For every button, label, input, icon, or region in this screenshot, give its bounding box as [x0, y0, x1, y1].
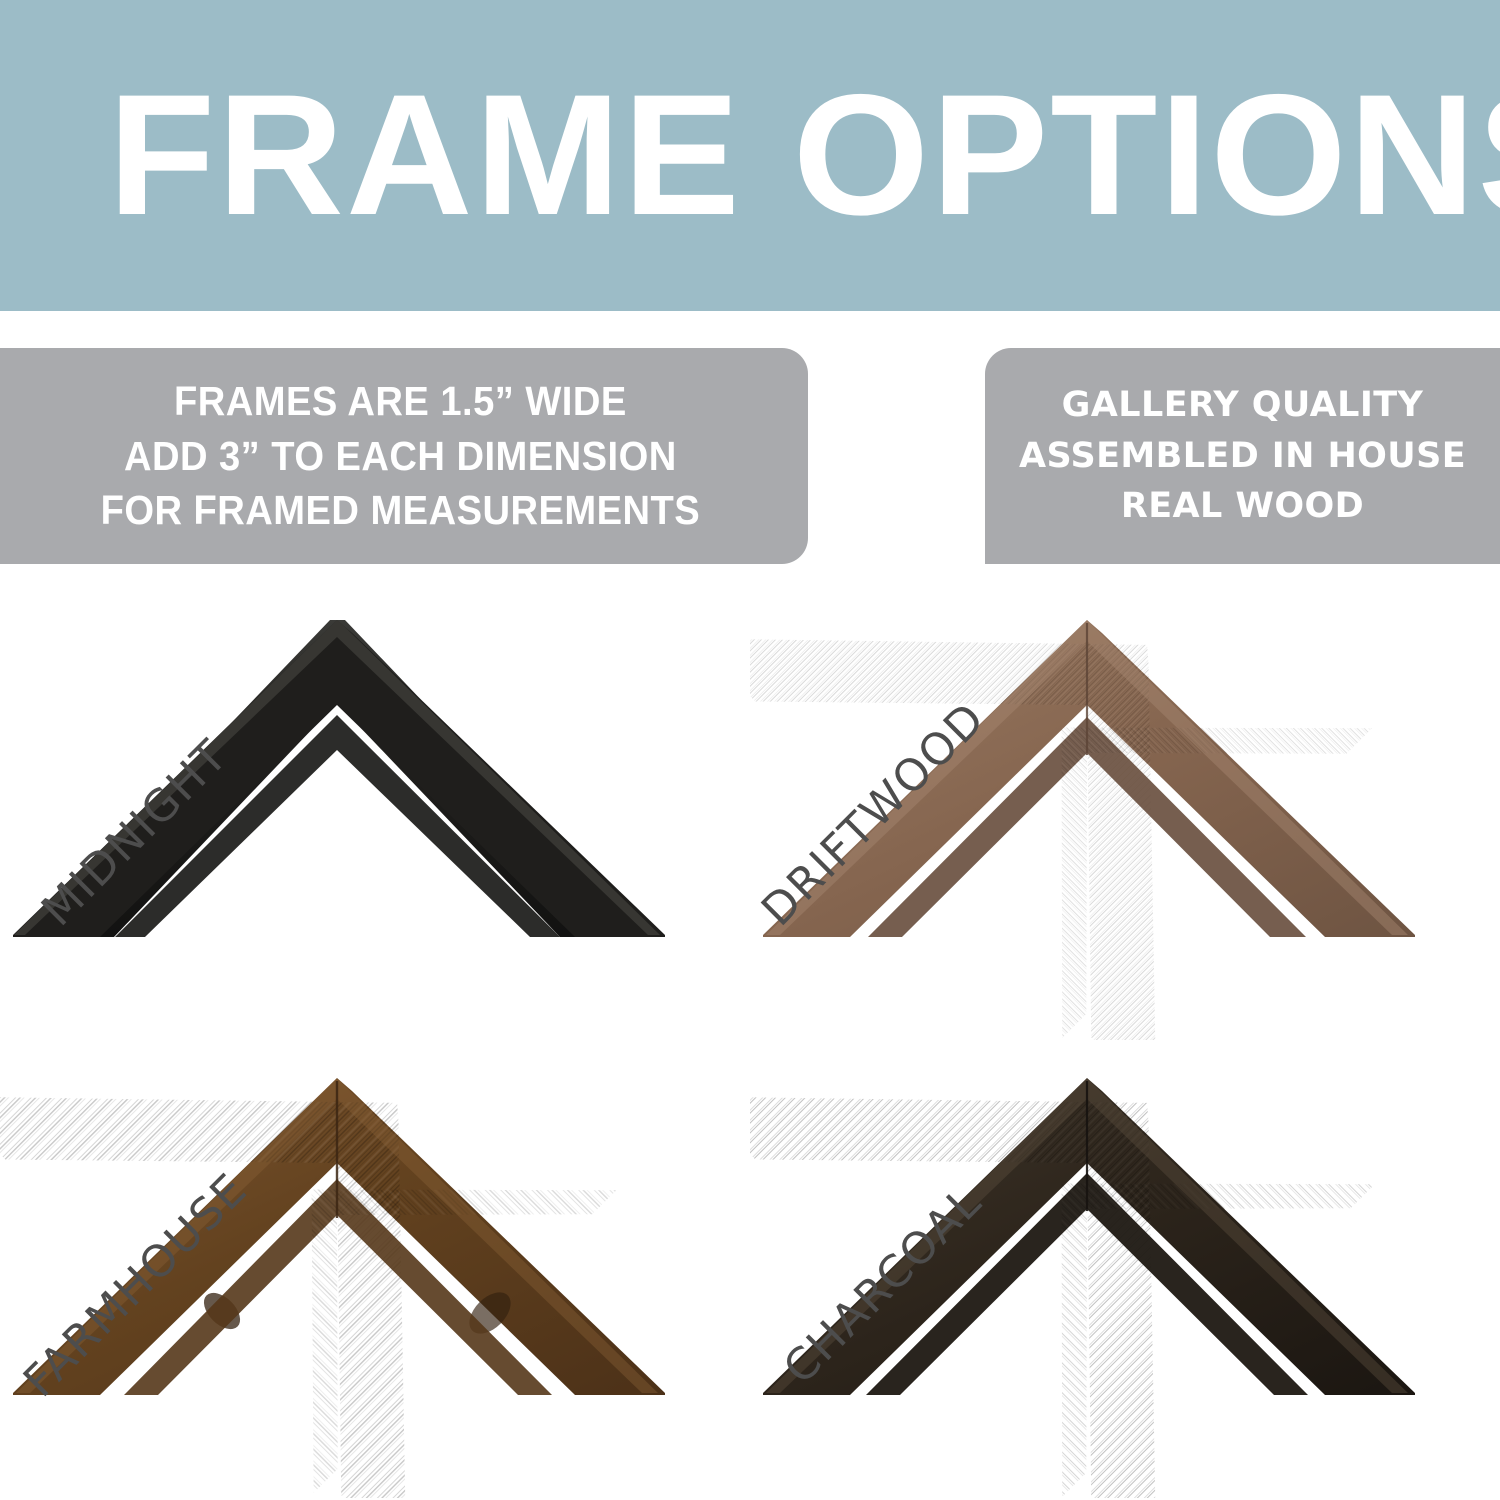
frame-option-farmhouse[interactable]: FARMHOUSE: [0, 1043, 750, 1498]
quality-callout-text: GALLERY QUALITY ASSEMBLED IN HOUSE REAL …: [1019, 380, 1466, 532]
frame-option-charcoal[interactable]: CHARCOAL: [750, 1043, 1500, 1498]
frame-options-grid: MIDNIGHT DRIFTWOOD: [0, 585, 1500, 1500]
midnight-frame-image: [0, 585, 750, 1040]
measurements-callout: FRAMES ARE 1.5” WIDE ADD 3” TO EACH DIME…: [0, 348, 808, 564]
header-banner: FRAME OPTIONS: [0, 0, 1500, 311]
measurements-callout-text: FRAMES ARE 1.5” WIDE ADD 3” TO EACH DIME…: [100, 374, 700, 538]
frame-option-driftwood[interactable]: DRIFTWOOD: [750, 585, 1500, 1040]
quality-callout: GALLERY QUALITY ASSEMBLED IN HOUSE REAL …: [985, 348, 1500, 564]
frame-option-midnight[interactable]: MIDNIGHT: [0, 585, 750, 1040]
page-title: FRAME OPTIONS: [108, 74, 1500, 237]
charcoal-body-group: [750, 1043, 1415, 1498]
farmhouse-body-group: [0, 1043, 665, 1498]
